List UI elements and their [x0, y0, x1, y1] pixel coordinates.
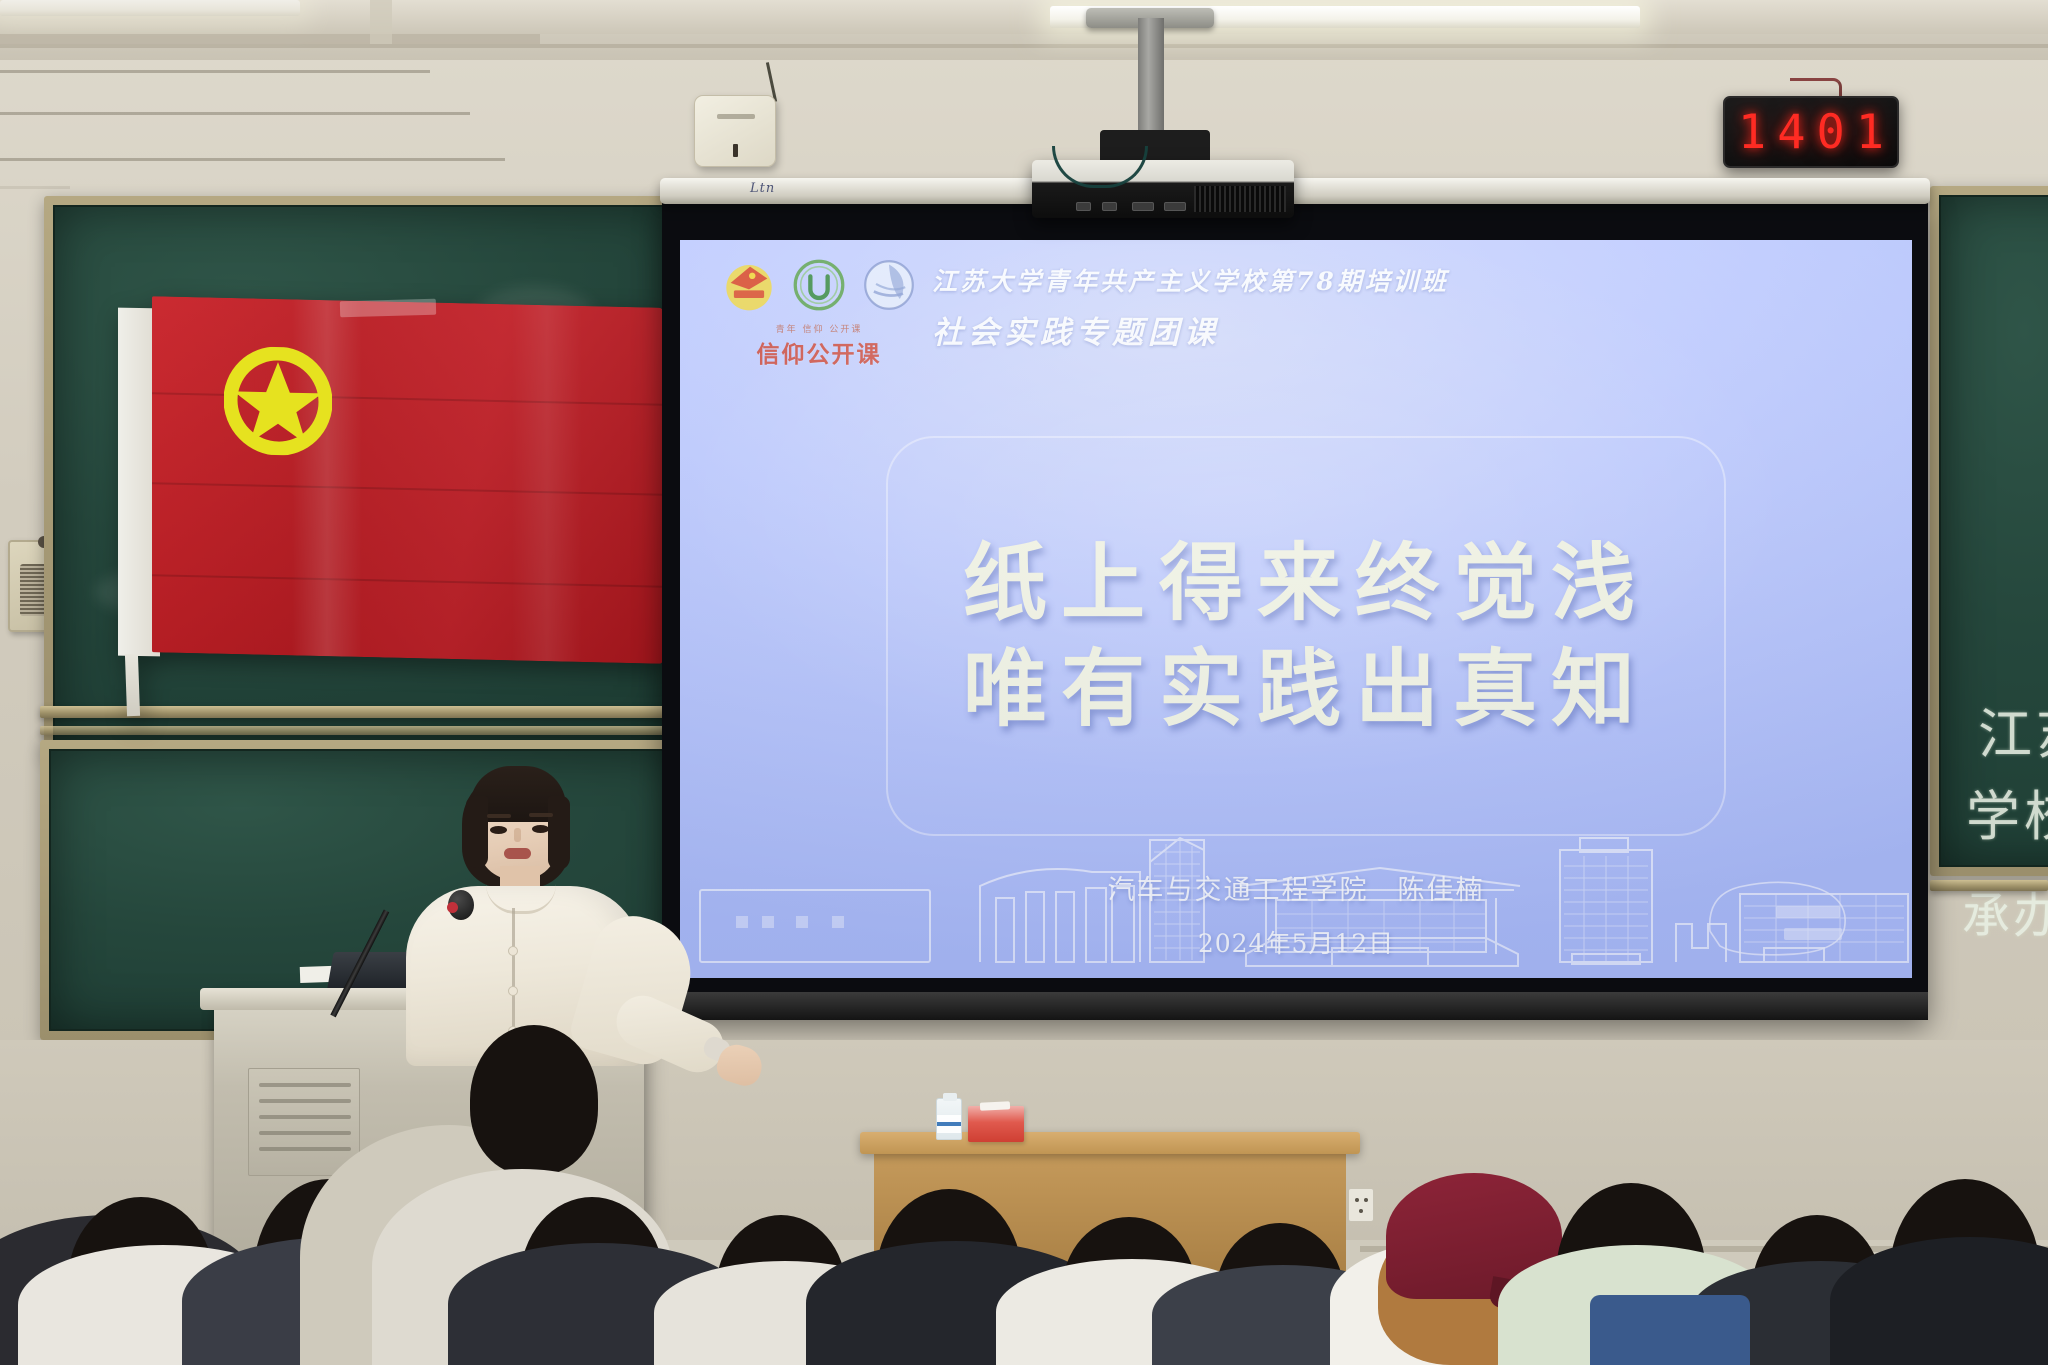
presenter-hair-left	[466, 796, 488, 868]
wall-panel-line	[0, 70, 430, 73]
ceiling-beam	[0, 34, 540, 44]
presenter-button	[508, 986, 518, 996]
projection-screen-housing: Ltn	[660, 178, 1930, 204]
spiral-logo	[862, 258, 916, 312]
left-chalk-rail-2	[40, 726, 690, 735]
u-circle-logo	[792, 258, 846, 312]
presenter-nose	[514, 828, 521, 842]
slide-header: 江苏大学青年共产主义学校第78期培训班 社会实践专题团课	[932, 262, 1449, 352]
communist-youth-league-logo	[722, 258, 776, 312]
presenter-eyebrow-right	[529, 813, 553, 817]
slide-title-line-2: 唯有实践出真知	[963, 647, 1649, 731]
clock-time-display: 1401	[1727, 105, 1895, 160]
presenter-eye-right	[532, 825, 549, 833]
presentation-slide: 青年 信仰 公开课 信仰公开课 江苏大学青年共产主义学校第78期培训班 社会实践…	[680, 240, 1912, 978]
presenter-eye-left	[490, 826, 507, 834]
projection-screen-weight-bar	[662, 992, 1928, 1020]
projector-vents	[1194, 186, 1286, 212]
presenter-hair-right	[548, 796, 570, 870]
chalk-line-2: 学校交	[1966, 772, 2048, 851]
ceiling-pillar	[370, 0, 392, 44]
projector-port	[1076, 202, 1091, 211]
ceiling-seam	[0, 44, 2048, 48]
slide-title-line-1: 纸上得来终觉浅	[963, 541, 1649, 625]
flag-body	[152, 296, 663, 664]
ceiling-band	[0, 0, 2048, 34]
microphone-indicator-ring	[447, 902, 458, 913]
slide-logo-row	[722, 258, 916, 312]
slide-brand-small: 青年 信仰 公开课	[734, 322, 904, 335]
slide-brand-big: 信仰公开课	[734, 335, 904, 369]
slide-title-plaque: 纸上得来终觉浅 唯有实践出真知	[886, 436, 1726, 836]
clock-power-wire	[1790, 78, 1842, 98]
projector-port	[1102, 202, 1117, 211]
wall-panel-line	[0, 158, 505, 161]
audience-head-bent	[470, 1025, 598, 1175]
communist-youth-league-flag	[118, 302, 663, 662]
wall-panel-line	[0, 112, 470, 115]
fluorescent-tube-light-left	[0, 0, 300, 16]
seated-audience	[0, 1035, 2048, 1365]
campus-skyline-illustration	[680, 828, 1912, 978]
presenter-eyebrow-left	[487, 814, 511, 818]
auditorium-seat	[1590, 1295, 1750, 1365]
slide-brand-block: 青年 信仰 公开课 信仰公开课	[734, 322, 904, 369]
projector-vga-port	[1164, 202, 1186, 211]
youth-league-star-emblem	[224, 346, 332, 456]
access-point-led	[733, 144, 738, 157]
chalk-line-1: 江苏	[1978, 690, 2048, 769]
lecture-hall-photo: 1401 江苏 学校交 承办:汽	[0, 0, 2048, 1365]
wall-panel-line	[0, 186, 70, 189]
flag-tape	[340, 299, 436, 318]
presenter-button	[508, 946, 518, 956]
projector-vga-port	[1132, 202, 1154, 211]
presenter-mouth	[504, 848, 531, 859]
slide-header-line-1: 江苏大学青年共产主义学校第78期培训班	[932, 262, 1449, 298]
flag-hoist-tail	[125, 654, 140, 716]
access-point-label	[717, 114, 755, 119]
wifi-access-point-icon	[694, 95, 776, 167]
slide-header-line-2: 社会实践专题团课	[932, 307, 1449, 352]
right-chalk-rail	[1930, 880, 2048, 891]
wall-digital-clock: 1401	[1723, 96, 1899, 168]
screen-brand-label: Ltn	[750, 181, 775, 196]
projector-mount-pole	[1138, 18, 1164, 136]
